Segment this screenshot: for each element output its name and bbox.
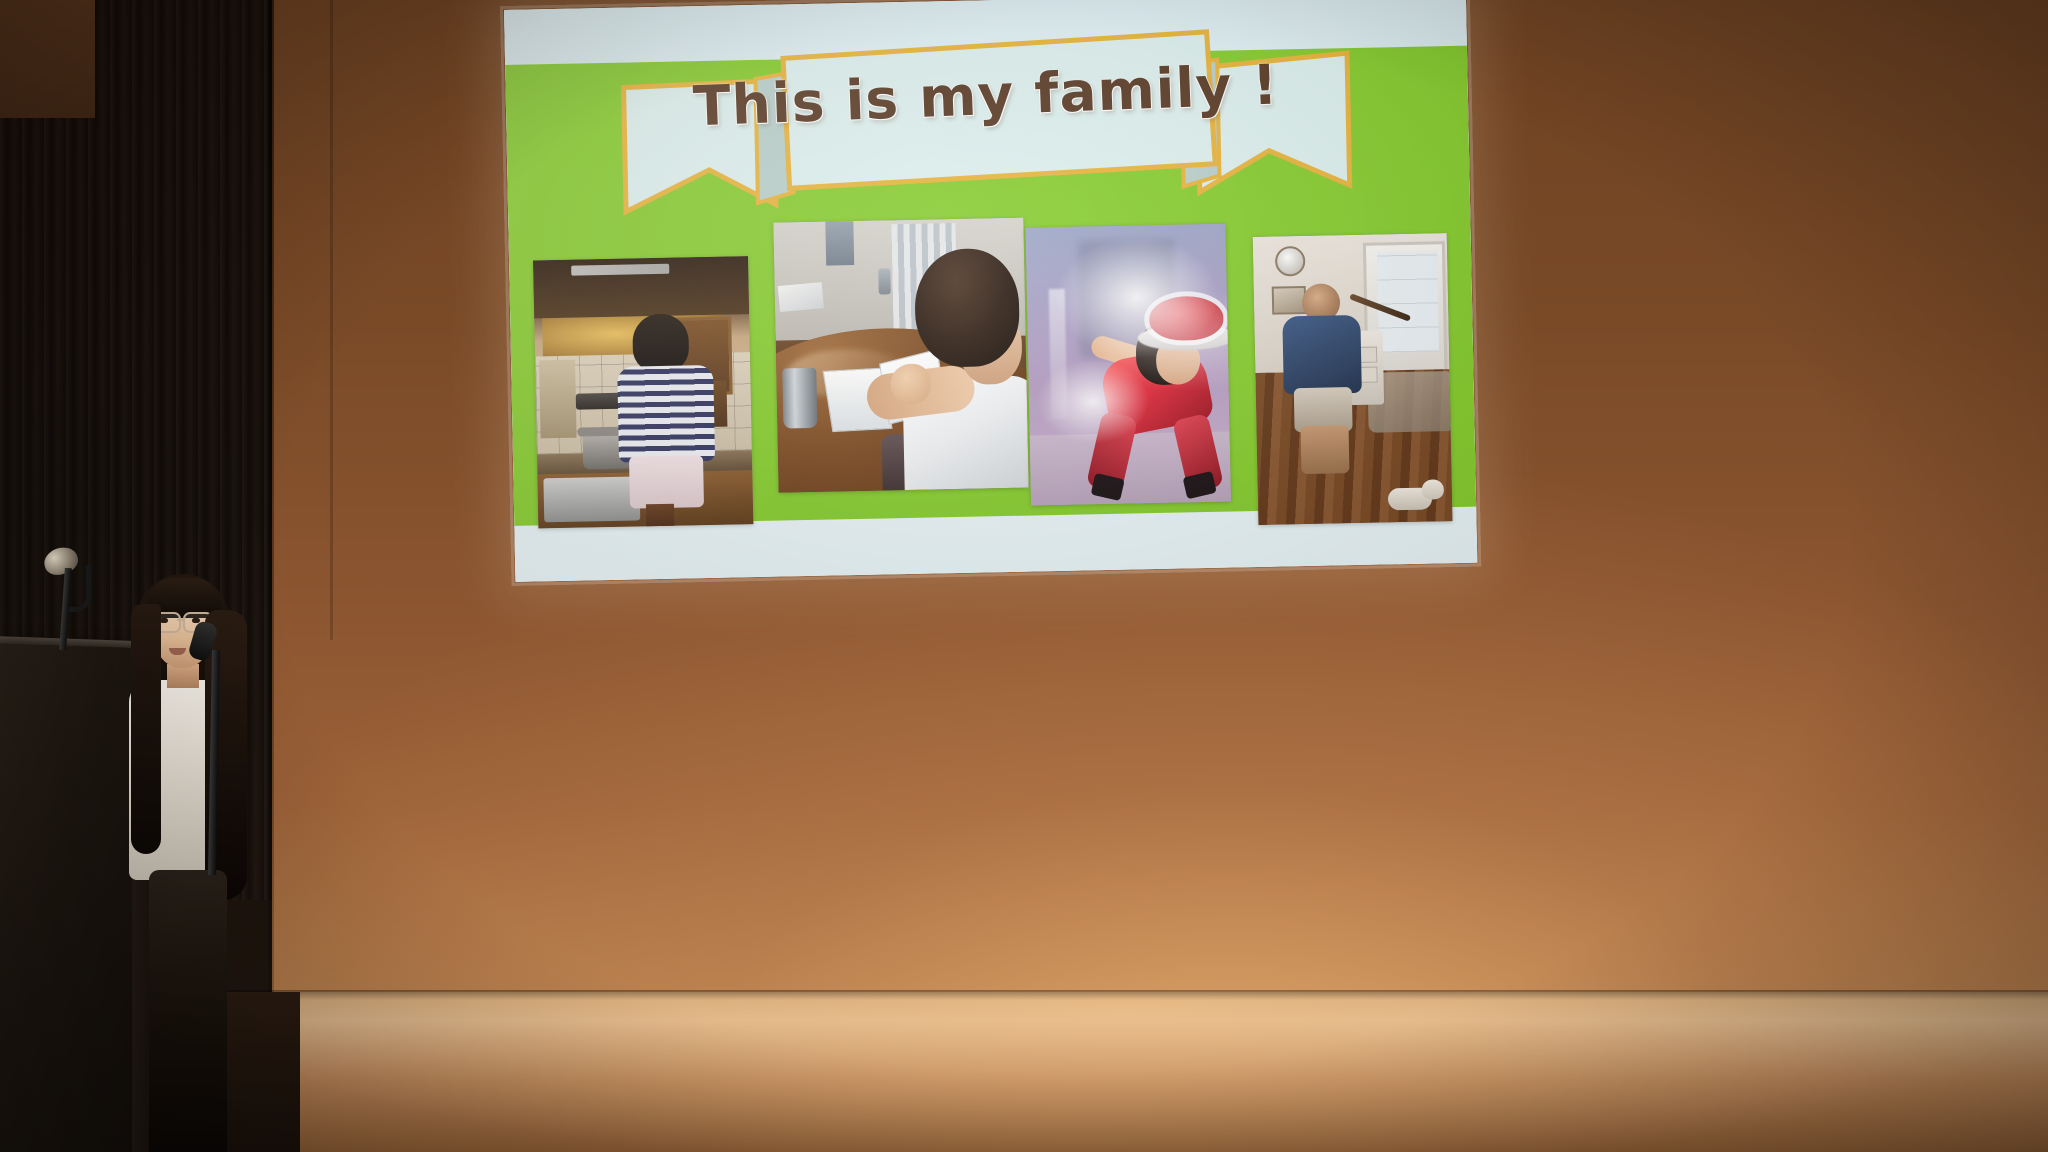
man-with-dog-photo (1253, 233, 1453, 525)
auditorium-scene: This is my family ! (0, 0, 2048, 1152)
slide-title: This is my family ! (614, 15, 1359, 177)
wall-seam-left (268, 0, 274, 1152)
girl-dancing-photo (1025, 224, 1231, 506)
kitchen-cooking-photo (533, 256, 753, 528)
title-ribbon-banner: This is my family ! (615, 21, 1359, 236)
student-presenter (131, 570, 243, 1152)
presentation-slide: This is my family ! (504, 0, 1477, 582)
wall-seam-secondary (330, 0, 333, 640)
slide-photo-row (524, 209, 1460, 528)
projection-screen: This is my family ! (504, 0, 1477, 582)
stage-floor-edge (0, 990, 2048, 1000)
slide-title-text: This is my family ! (692, 52, 1280, 138)
stage-floor (0, 992, 2048, 1152)
presenter-hair-front-left (131, 604, 161, 854)
wall-corner-notch (0, 0, 95, 118)
boy-reading-photo (773, 218, 1028, 493)
presenter-lower-body (149, 870, 227, 1152)
